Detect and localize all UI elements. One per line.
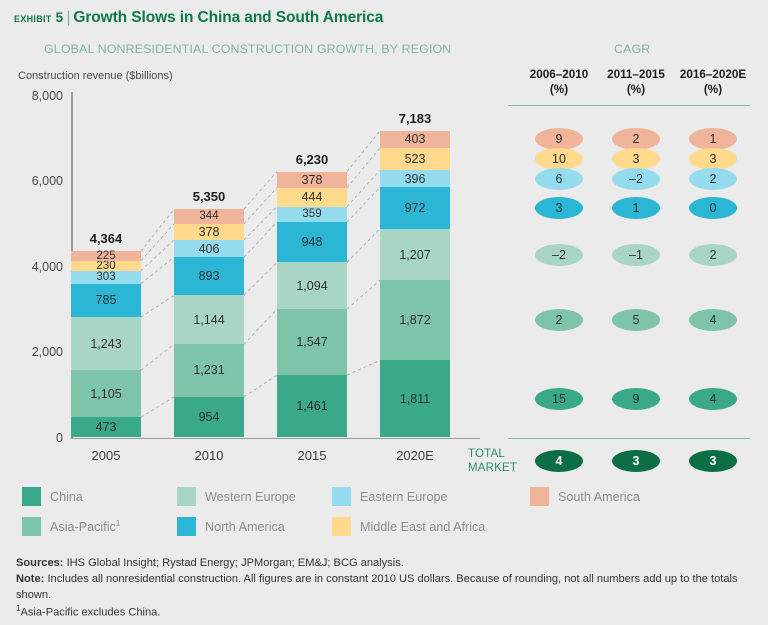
bar-total-2010: 5,350 xyxy=(174,189,244,204)
legend-label: Middle East and Africa xyxy=(360,520,485,534)
y-axis-tick-label: 8,000 xyxy=(9,89,63,103)
connector-line xyxy=(244,375,277,397)
bar-segment-eastern-europe: 396 xyxy=(380,170,450,187)
total-market-label: TOTALMARKET xyxy=(468,447,517,476)
bar-total-2020E: 7,183 xyxy=(380,111,450,126)
legend-item-asia-pacific[interactable]: Asia-Pacific1 xyxy=(22,517,120,536)
cagr-column-header-3: 2016–2020E(%) xyxy=(653,68,768,98)
bar-segment-asia-pacific: 1,105 xyxy=(71,370,141,417)
connector-line xyxy=(244,172,277,210)
footnote-text: Asia-Pacific excludes China. xyxy=(20,607,160,619)
cagr-total-pill-1: 4 xyxy=(535,450,583,472)
footnotes: Sources: IHS Global Insight; Rystad Ener… xyxy=(16,556,752,622)
connector-line xyxy=(141,295,174,317)
bar-segment-asia-pacific: 1,872 xyxy=(380,280,450,360)
stacked-bar-chart: 02,0004,0006,0008,0004,36420054731,1051,… xyxy=(0,0,490,470)
legend-label: North America xyxy=(205,520,285,534)
cagr-pill-north-america-2: 1 xyxy=(612,197,660,219)
legend-item-north-america[interactable]: North America xyxy=(177,517,285,536)
connector-line xyxy=(347,148,380,188)
sources-text: IHS Global Insight; Rystad Energy; JPMor… xyxy=(63,557,403,569)
legend-label: Eastern Europe xyxy=(360,490,448,504)
bar-segment-western-europe: 1,207 xyxy=(380,229,450,281)
legend-item-china[interactable]: China xyxy=(22,487,83,506)
cagr-total-rule xyxy=(508,438,750,439)
legend-label: China xyxy=(50,490,83,504)
legend-swatch xyxy=(22,487,41,506)
connector-line xyxy=(347,170,380,206)
legend-swatch xyxy=(22,517,41,536)
bar-2020E: 1,8111,8721,207972396523403 xyxy=(380,131,450,438)
total-market-label-line1: TOTAL xyxy=(468,447,517,461)
connector-line xyxy=(347,229,380,263)
x-axis-label-2010: 2010 xyxy=(174,448,244,463)
bar-total-2015: 6,230 xyxy=(277,152,347,167)
connector-line xyxy=(347,187,380,222)
bar-segment-middle-east-and-africa: 378 xyxy=(174,224,244,240)
bar-segment-western-europe: 1,243 xyxy=(71,317,141,370)
connector-line xyxy=(141,397,174,418)
bar-segment-south-america: 225 xyxy=(71,251,141,261)
cagr-column-range: 2016–2020E xyxy=(653,68,768,83)
y-axis-tick-label: 6,000 xyxy=(9,174,63,188)
connector-line xyxy=(347,360,380,375)
connector-line xyxy=(141,257,174,283)
cagr-total-pill-3: 3 xyxy=(689,450,737,472)
bar-2010: 9541,2311,144893406378344 xyxy=(174,209,244,437)
cagr-pill-asia-pacific-1: 2 xyxy=(535,309,583,331)
legend-item-western-europe[interactable]: Western Europe xyxy=(177,487,296,506)
bar-segment-eastern-europe: 406 xyxy=(174,240,244,257)
legend-swatch xyxy=(177,487,196,506)
x-axis-label-2005: 2005 xyxy=(71,448,141,463)
note-line: Note: Includes all nonresidential constr… xyxy=(16,572,752,604)
cagr-total-pill-2: 3 xyxy=(612,450,660,472)
x-axis-label-2020E: 2020E xyxy=(380,448,450,463)
cagr-pill-asia-pacific-2: 5 xyxy=(612,309,660,331)
cagr-pill-china-1: 15 xyxy=(535,388,583,410)
bar-total-2005: 4,364 xyxy=(71,231,141,246)
bar-segment-south-america: 403 xyxy=(380,131,450,148)
connector-line xyxy=(141,209,174,251)
bar-segment-asia-pacific: 1,547 xyxy=(277,309,347,375)
legend-swatch xyxy=(530,487,549,506)
legend-swatch xyxy=(332,487,351,506)
connector-line xyxy=(347,280,380,309)
cagr-pill-south-america-3: 1 xyxy=(689,128,737,150)
cagr-pill-north-america-3: 0 xyxy=(689,197,737,219)
bar-segment-china: 954 xyxy=(174,397,244,438)
sources-label: Sources: xyxy=(16,557,63,569)
bar-segment-north-america: 785 xyxy=(71,284,141,318)
bar-segment-eastern-europe: 359 xyxy=(277,207,347,222)
connector-line xyxy=(244,309,277,344)
cagr-panel: 2006–2010(%)2011–2015(%)2016–2020E(%)921… xyxy=(490,0,768,470)
bar-segment-middle-east-and-africa: 523 xyxy=(380,148,450,170)
legend-label: Asia-Pacific1 xyxy=(50,519,120,534)
cagr-pill-asia-pacific-3: 4 xyxy=(689,309,737,331)
cagr-pill-north-america-1: 3 xyxy=(535,197,583,219)
y-axis-tick-label: 4,000 xyxy=(9,260,63,274)
cagr-pill-china-2: 9 xyxy=(612,388,660,410)
bar-segment-eastern-europe: 303 xyxy=(71,271,141,284)
x-axis-line xyxy=(71,438,480,440)
bar-segment-china: 1,461 xyxy=(277,375,347,437)
cagr-pill-eastern-europe-1: 6 xyxy=(535,168,583,190)
cagr-pill-western-europe-2: –1 xyxy=(612,244,660,266)
bar-segment-south-america: 344 xyxy=(174,209,244,224)
bar-segment-north-america: 972 xyxy=(380,187,450,228)
cagr-pill-china-3: 4 xyxy=(689,388,737,410)
note-text: Includes all nonresidential construction… xyxy=(16,573,738,601)
cagr-pill-western-europe-1: –2 xyxy=(535,244,583,266)
bar-segment-china: 473 xyxy=(71,417,141,437)
connector-line xyxy=(141,224,174,261)
bar-segment-middle-east-and-africa: 444 xyxy=(277,188,347,207)
cagr-header-rule xyxy=(508,105,750,106)
bar-segment-asia-pacific: 1,231 xyxy=(174,344,244,397)
legend-item-south-america[interactable]: South America xyxy=(530,487,640,506)
cagr-pill-eastern-europe-3: 2 xyxy=(689,168,737,190)
legend-swatch xyxy=(177,517,196,536)
bar-segment-north-america: 893 xyxy=(174,257,244,295)
bar-segment-western-europe: 1,144 xyxy=(174,295,244,344)
sources-line: Sources: IHS Global Insight; Rystad Ener… xyxy=(16,556,752,572)
asia-pacific-footnote: 1Asia-Pacific excludes China. xyxy=(16,603,752,621)
total-market-label-line2: MARKET xyxy=(468,461,517,475)
y-axis-tick-label: 2,000 xyxy=(9,345,63,359)
connector-line xyxy=(244,207,277,240)
connector-line xyxy=(347,131,380,172)
cagr-pill-south-america-2: 2 xyxy=(612,128,660,150)
legend-label: South America xyxy=(558,490,640,504)
bar-segment-western-europe: 1,094 xyxy=(277,262,347,309)
y-axis-tick-label: 0 xyxy=(9,431,63,445)
connector-line xyxy=(244,222,277,257)
cagr-pill-eastern-europe-2: –2 xyxy=(612,168,660,190)
bar-segment-south-america: 378 xyxy=(277,172,347,188)
legend-item-middle-east-and-africa[interactable]: Middle East and Africa xyxy=(332,517,485,536)
note-label: Note: xyxy=(16,573,44,585)
connector-line xyxy=(244,188,277,224)
cagr-pill-western-europe-3: 2 xyxy=(689,244,737,266)
cagr-column-unit: (%) xyxy=(653,83,768,98)
legend-item-eastern-europe[interactable]: Eastern Europe xyxy=(332,487,448,506)
bar-segment-china: 1,811 xyxy=(380,360,450,437)
legend-label: Western Europe xyxy=(205,490,296,504)
bar-2015: 1,4611,5471,094948359444378 xyxy=(277,172,347,438)
legend-swatch xyxy=(332,517,351,536)
connector-line xyxy=(141,240,174,271)
bar-segment-north-america: 948 xyxy=(277,222,347,262)
connector-line xyxy=(141,344,174,370)
cagr-pill-south-america-1: 9 xyxy=(535,128,583,150)
bar-segment-middle-east-and-africa: 230 xyxy=(71,261,141,271)
legend-footnote-marker: 1 xyxy=(116,519,120,528)
connector-line xyxy=(244,262,277,295)
x-axis-label-2015: 2015 xyxy=(277,448,347,463)
bar-2005: 4731,1051,243785303230225 xyxy=(71,251,141,437)
